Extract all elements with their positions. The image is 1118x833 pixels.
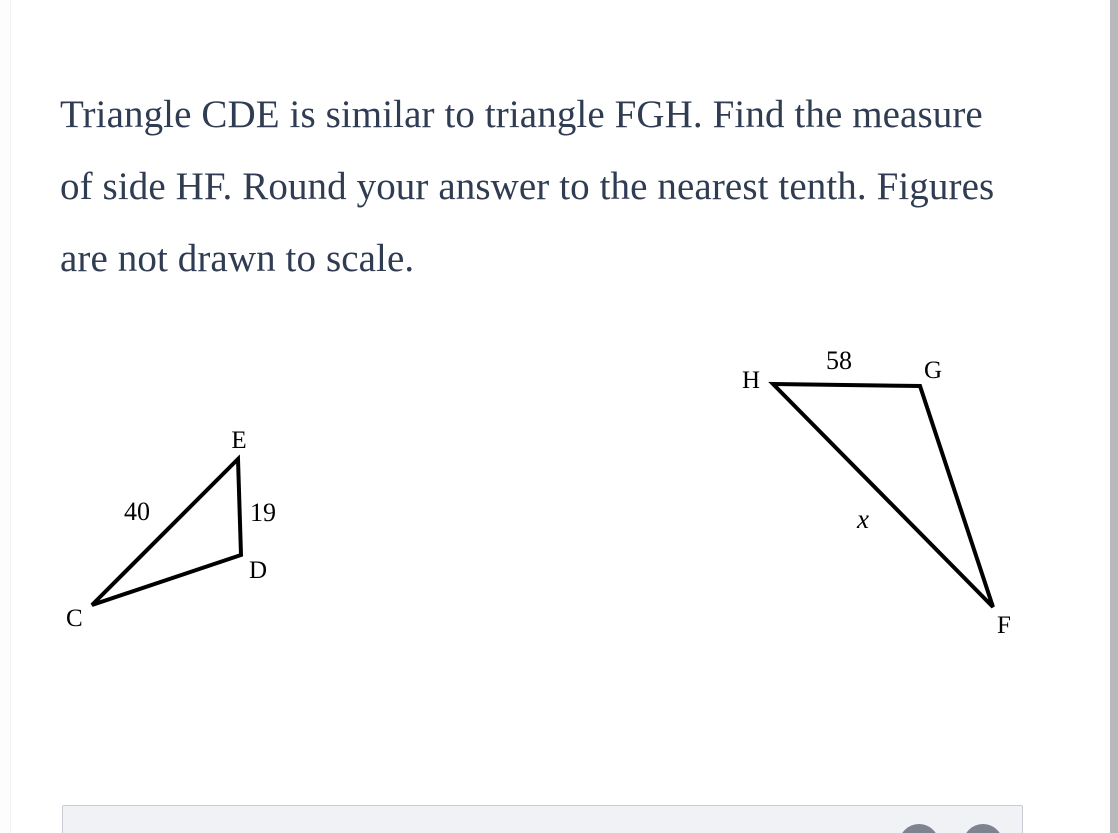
question-page: Triangle CDE is similar to triangle FGH.… [0, 0, 1118, 833]
question-prompt: Triangle CDE is similar to triangle FGH.… [60, 79, 1020, 295]
choice-bubble-1[interactable] [899, 824, 939, 833]
answer-choices-panel[interactable] [62, 805, 1023, 833]
choice-bubble-2[interactable] [963, 824, 1003, 833]
page-scrollbar-thumb[interactable] [1110, 0, 1118, 833]
page-scrollbar-track[interactable] [1110, 0, 1118, 833]
